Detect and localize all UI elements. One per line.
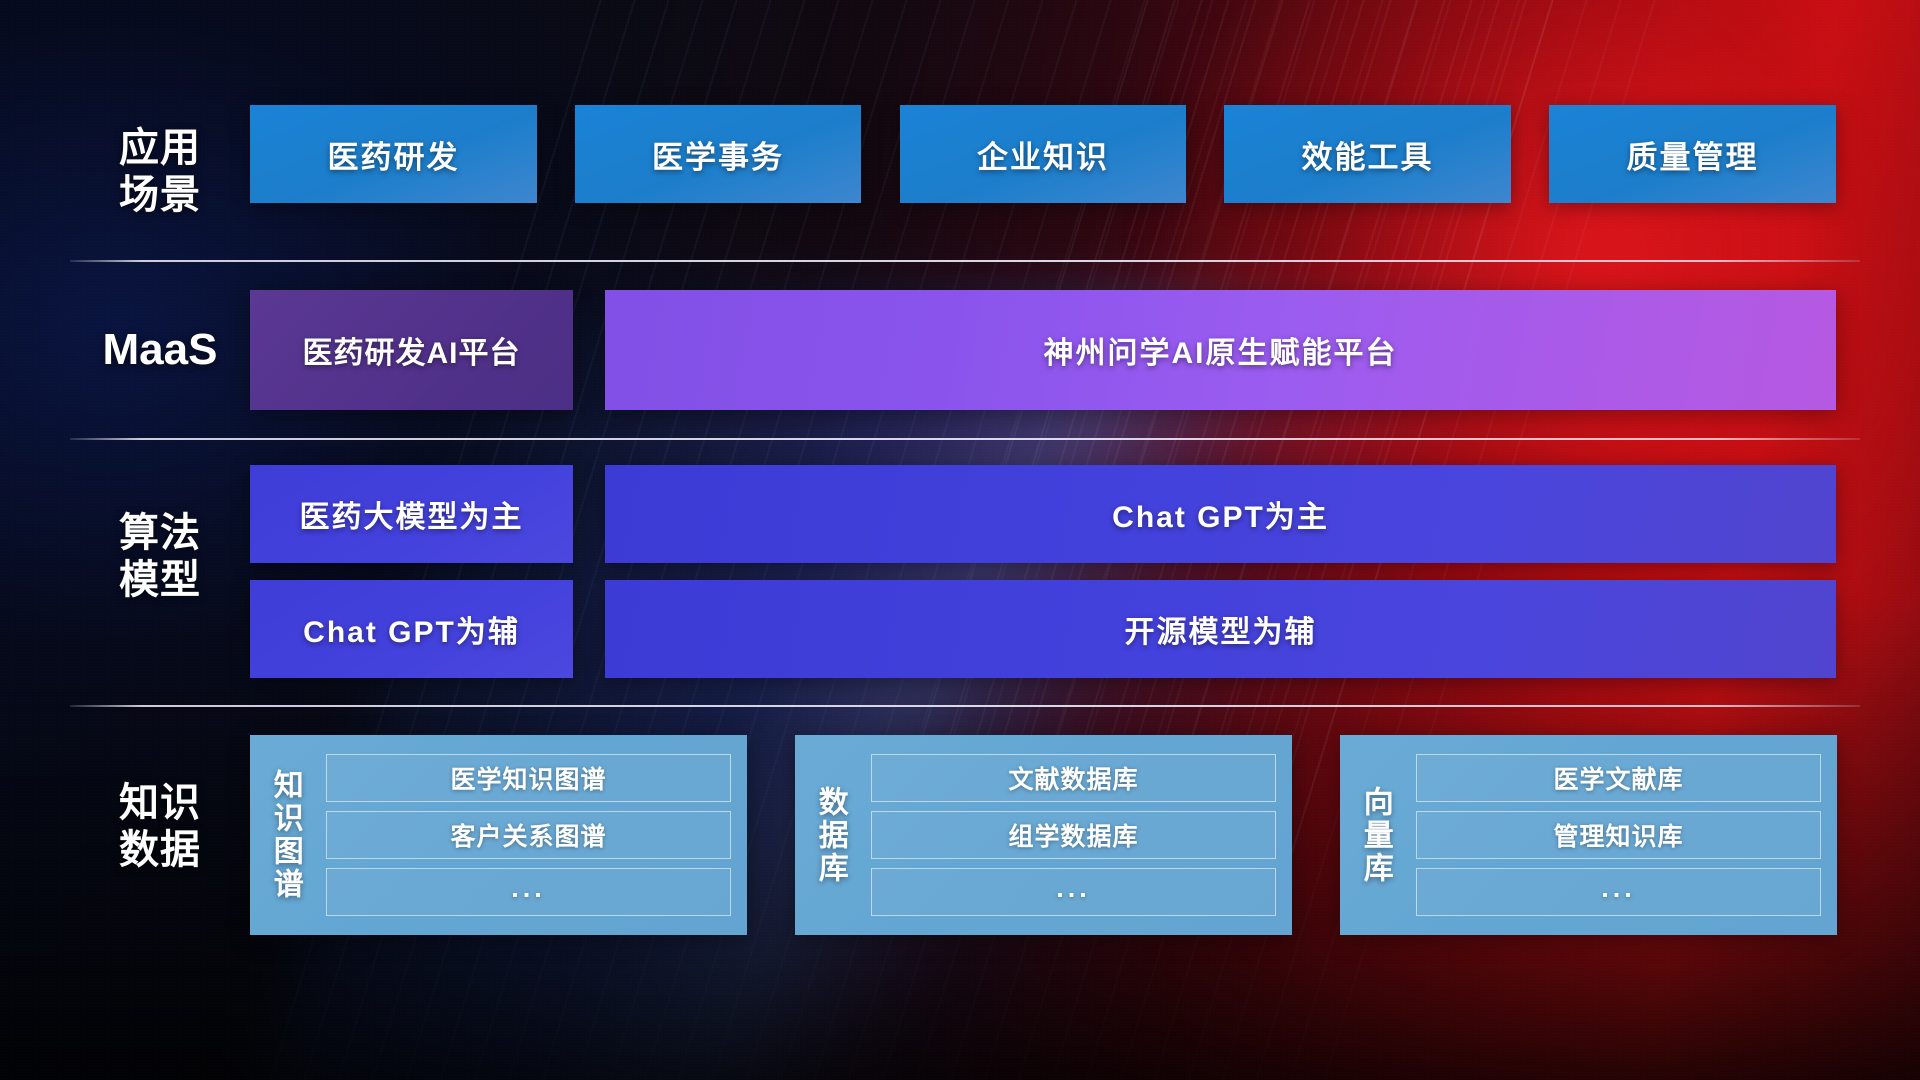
knowledge-item-list: 文献数据库 组学数据库 ... <box>865 735 1292 935</box>
algo-box-opensource-secondary[interactable]: 开源模型为辅 <box>605 580 1836 678</box>
knowledge-group-title-knowledge-graph: 知识图谱 <box>250 735 320 935</box>
algo-box-drug-llm-primary[interactable]: 医药大模型为主 <box>250 465 573 563</box>
maas-box-shenzhou-wenxue-platform[interactable]: 神州问学AI原生赋能平台 <box>605 290 1836 410</box>
app-box-quality-management[interactable]: 质量管理 <box>1549 105 1836 203</box>
row-label-line1: 知识 <box>85 780 235 827</box>
knowledge-group-vector-store: 向量库 医学文献库 管理知识库 ... <box>1340 735 1837 935</box>
divider-after-application-scenario <box>70 260 1860 262</box>
row-label-algorithm-model: 算法 模型 <box>85 510 235 604</box>
app-box-efficiency-tools[interactable]: 效能工具 <box>1224 105 1511 203</box>
knowledge-group-database: 数据库 文献数据库 组学数据库 ... <box>795 735 1292 935</box>
knowledge-item-omics-database[interactable]: 组学数据库 <box>871 811 1276 859</box>
row-label-knowledge-data: 知识 数据 <box>85 780 235 874</box>
row-label-line2: 场景 <box>85 172 235 219</box>
row-label-line1: 应用 <box>85 125 235 172</box>
knowledge-item-customer-relation-graph[interactable]: 客户关系图谱 <box>326 811 731 859</box>
diagram-canvas: 应用 场景 医药研发 医学事务 企业知识 效能工具 质量管理 MaaS 医药研发… <box>0 0 1920 1080</box>
knowledge-item-medical-literature-store[interactable]: 医学文献库 <box>1416 754 1821 802</box>
knowledge-item-list: 医学文献库 管理知识库 ... <box>1410 735 1837 935</box>
algo-box-chatgpt-secondary[interactable]: Chat GPT为辅 <box>250 580 573 678</box>
row-label-line1: 算法 <box>85 510 235 557</box>
app-box-medical-affairs[interactable]: 医学事务 <box>575 105 861 203</box>
knowledge-group-title-vector-store: 向量库 <box>1340 735 1410 935</box>
knowledge-item-more[interactable]: ... <box>326 868 731 916</box>
row-label-application-scenario: 应用 场景 <box>85 125 235 219</box>
knowledge-group-knowledge-graph: 知识图谱 医学知识图谱 客户关系图谱 ... <box>250 735 747 935</box>
knowledge-item-more[interactable]: ... <box>871 868 1276 916</box>
knowledge-group-title-database: 数据库 <box>795 735 865 935</box>
row-label-maas: MaaS <box>85 324 235 376</box>
knowledge-item-management-knowledge-store[interactable]: 管理知识库 <box>1416 811 1821 859</box>
algo-box-chatgpt-primary[interactable]: Chat GPT为主 <box>605 465 1836 563</box>
maas-box-drug-rd-ai-platform[interactable]: 医药研发AI平台 <box>250 290 573 410</box>
knowledge-item-more[interactable]: ... <box>1416 868 1821 916</box>
knowledge-item-literature-database[interactable]: 文献数据库 <box>871 754 1276 802</box>
divider-after-maas <box>70 438 1860 440</box>
row-label-line2: 模型 <box>85 557 235 604</box>
knowledge-item-list: 医学知识图谱 客户关系图谱 ... <box>320 735 747 935</box>
app-box-enterprise-knowledge[interactable]: 企业知识 <box>900 105 1186 203</box>
app-box-drug-rd[interactable]: 医药研发 <box>250 105 537 203</box>
knowledge-item-medical-knowledge-graph[interactable]: 医学知识图谱 <box>326 754 731 802</box>
divider-after-algorithm-model <box>70 705 1860 707</box>
row-label-line2: 数据 <box>85 827 235 874</box>
